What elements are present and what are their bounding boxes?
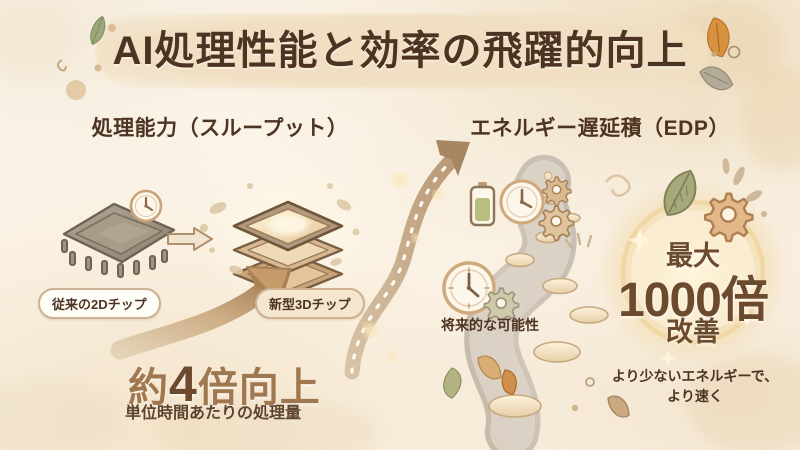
ring-decoration [586, 378, 594, 386]
battery-icon [471, 182, 494, 225]
caption-line-2: より速く [600, 386, 790, 406]
infographic-canvas: AI処理性能と効率の飛躍的向上 処理能力（スループット） エネルギー遅延積（ED… [0, 0, 800, 450]
caption-line-1: より少ないエネルギーで、 [600, 366, 790, 386]
gear-icon [539, 206, 573, 240]
caption-energy-efficiency: より少ないエネルギーで、 より速く [600, 366, 790, 407]
dashed-arrow-icon [352, 140, 470, 372]
clock-icon [501, 181, 543, 223]
badge-bottom-label: 改善 [598, 310, 788, 349]
gear-icon [542, 177, 571, 206]
label-future-possibility: 将来的な可能性 [420, 315, 560, 335]
dot-decoration [572, 405, 578, 411]
badge-edp-improvement: 最大 1000倍 改善 [598, 200, 788, 355]
swirl-decoration [606, 175, 630, 195]
leaf-icon [438, 367, 466, 399]
